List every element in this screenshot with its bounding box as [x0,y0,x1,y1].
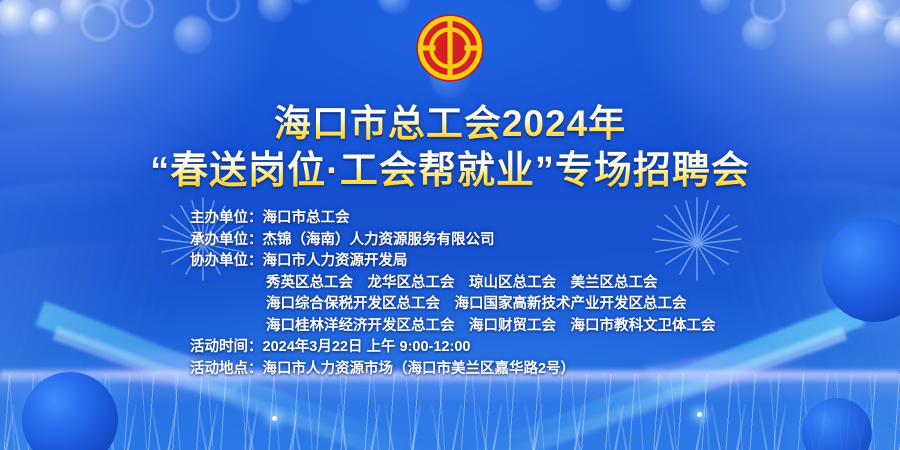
time-label: 活动时间： [190,337,263,359]
time-value: 2024年3月22日 上午 9:00-12:00 [263,339,471,355]
place-value: 海口市人力资源市场（海口市美兰区嘉华路2号） [263,361,576,377]
support-extra-line-2: 海口综合保税开发区总工会 海口国家高新技术产业开发区总工会 [190,294,716,316]
poster-content: 海口市总工会2024年 “春送岗位·工会帮就业”专场招聘会 主办单位：海口市总工… [0,0,900,450]
host-value: 海口市总工会 [263,210,350,226]
support-extra-line-3: 海口桂林洋经济开发区总工会 海口财贸工会 海口市教科文卫体工会 [190,316,716,338]
poster-title-line-1: 海口市总工会2024年 [0,102,900,146]
place-label: 活动地点： [190,359,263,381]
organizer-label: 承办单位： [190,230,263,252]
organizer-value: 杰锦（海南）人力资源服务有限公司 [263,232,495,248]
detail-row-time: 活动时间：2024年3月22日 上午 9:00-12:00 [190,337,716,359]
support-value: 海口市人力资源开发局 [263,253,408,269]
detail-row-place: 活动地点：海口市人力资源市场（海口市美兰区嘉华路2号） [190,359,716,381]
detail-row-organizer: 承办单位：杰锦（海南）人力资源服务有限公司 [190,230,716,252]
detail-row-support: 协办单位：海口市人力资源开发局 [190,251,716,273]
title-block: 海口市总工会2024年 “春送岗位·工会帮就业”专场招聘会 [0,102,900,193]
support-label: 协办单位： [190,251,263,273]
event-details: 主办单位：海口市总工会 承办单位：杰锦（海南）人力资源服务有限公司 协办单位：海… [190,208,716,380]
poster-title-line-2: “春送岗位·工会帮就业”专场招聘会 [0,149,900,194]
detail-row-host: 主办单位：海口市总工会 [190,208,716,230]
host-label: 主办单位： [190,208,263,230]
recruitment-poster: 海口市总工会2024年 “春送岗位·工会帮就业”专场招聘会 主办单位：海口市总工… [0,0,900,450]
support-extra-line-1: 秀英区总工会 龙华区总工会 琼山区总工会 美兰区总工会 [190,273,716,295]
